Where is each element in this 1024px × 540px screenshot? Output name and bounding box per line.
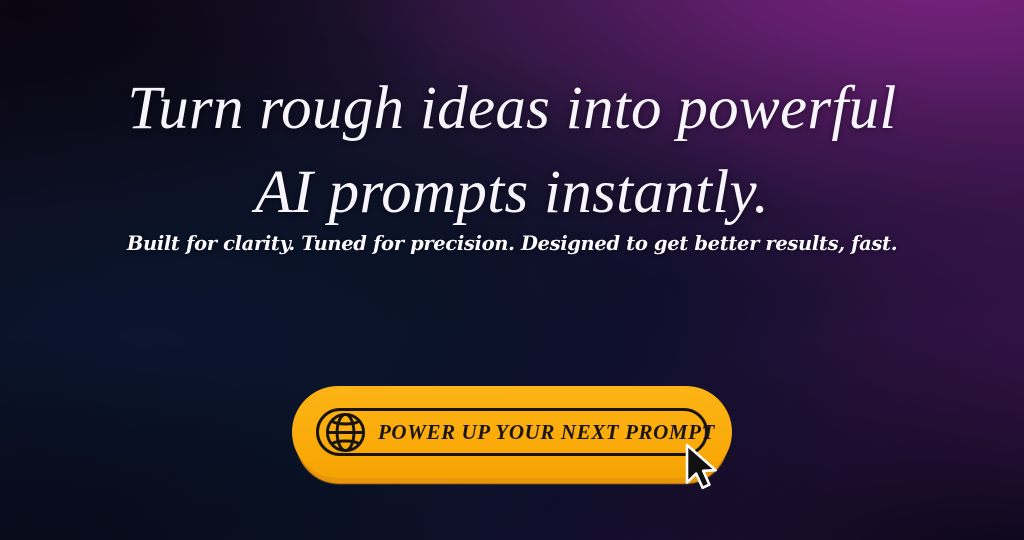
- hero-headline: Turn rough ideas into powerful AI prompt…: [0, 67, 1024, 235]
- cta-container: POWER UP YOUR NEXT PROMPT: [292, 386, 732, 488]
- power-up-prompt-button[interactable]: [292, 386, 732, 478]
- headline-line-2: AI prompts instantly.: [0, 151, 1024, 235]
- hero-subtitle: Built for clarity. Tuned for precision. …: [0, 232, 1024, 255]
- hero-section: Turn rough ideas into powerful AI prompt…: [0, 0, 1024, 540]
- headline-line-1: Turn rough ideas into powerful: [0, 67, 1024, 151]
